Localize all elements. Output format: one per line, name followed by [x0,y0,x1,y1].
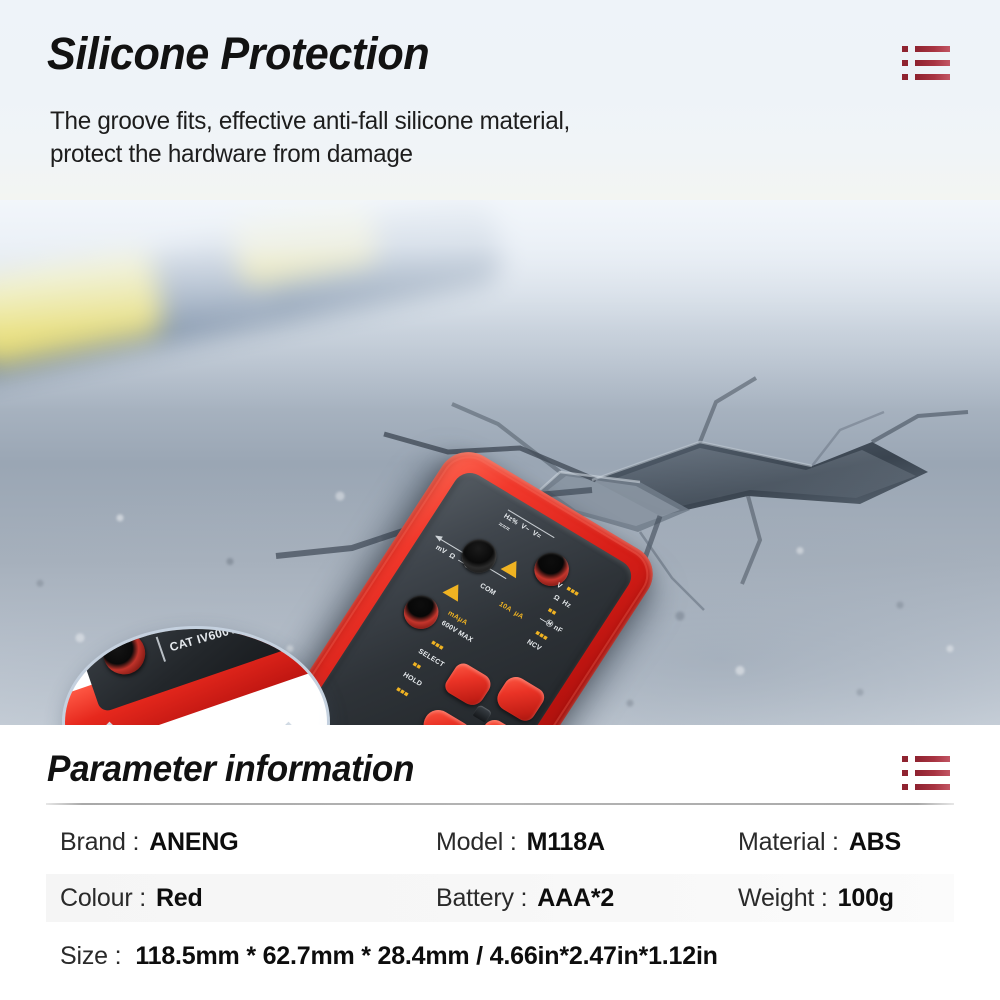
parameter-value: 100g [838,884,894,913]
parameter-row: Colour : Red Battery : AAA*2 Weight : 10… [46,874,954,922]
function-button-hold [492,673,548,725]
parameter-cell-colour: Colour : Red [60,884,203,913]
parameter-section-title: Parameter information [47,748,414,790]
input-jack-mau [397,589,445,635]
parameter-key: Material : [738,828,839,857]
silicone-callout-circle: CAT IV600V 10sec MAX 10A Silicone materi… [62,626,330,725]
parameter-value: M118A [527,828,605,857]
parameter-cell-weight: Weight : 100g [738,884,894,913]
parameter-value: 118.5mm * 62.7mm * 28.4mm / 4.66in*2.47i… [135,942,717,971]
parameter-value: ANENG [149,828,238,857]
parameter-cell-battery: Battery : AAA*2 [436,884,614,913]
function-button-select [442,660,495,709]
section-divider [46,803,954,805]
header-section: Silicone Protection The groove fits, eff… [0,0,1000,200]
callout-device-closeup: CAT IV600V 10sec MAX 10A [62,626,330,725]
parameter-key: Brand : [60,828,139,857]
parameter-cell-material: Material : ABS [738,828,901,857]
parameter-key: Colour : [60,884,146,913]
list-icon[interactable] [902,756,950,790]
parameter-cell-brand: Brand : ANENG [60,828,239,857]
warning-triangle-icon [501,556,525,578]
parameter-cell-model: Model : M118A [436,828,605,857]
parameter-key: Battery : [436,884,527,913]
parameter-value: AAA*2 [537,884,614,913]
function-button-range [417,705,475,725]
parameter-key: Weight : [738,884,828,913]
parameter-row: Brand : ANENG Model : M118A Material : A… [46,818,954,866]
warning-triangle-icon [442,580,466,602]
parameter-key: Model : [436,828,517,857]
parameter-row: Size : 118.5mm * 62.7mm * 28.4mm / 4.66i… [46,932,954,980]
parameter-cell-size: Size : 118.5mm * 62.7mm * 28.4mm / 4.66i… [60,942,718,971]
product-detail-page: Hz% V~ V= ≈≈≈ mV Ω —Ⓜ COM 10A μA mAμA 60… [0,0,1000,1000]
parameter-value: Red [156,884,203,913]
page-subtitle: The groove fits, effective anti-fall sil… [50,105,570,171]
page-title: Silicone Protection [47,28,429,80]
parameter-key: Size : [60,942,121,971]
product-photo: Hz% V~ V= ≈≈≈ mV Ω —Ⓜ COM 10A μA mAμA 60… [0,180,1000,725]
parameter-value: ABS [849,828,901,857]
list-icon[interactable] [902,46,950,80]
